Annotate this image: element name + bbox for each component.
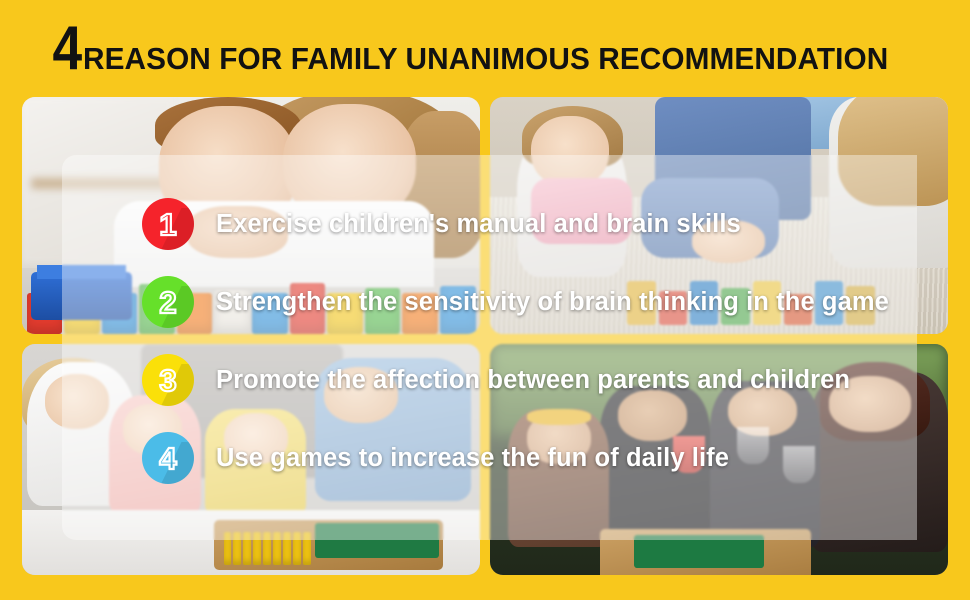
- badge-2-number: 2: [159, 287, 176, 318]
- badge-4-number: 4: [159, 443, 176, 474]
- reason-item-1: 1 Exercise children's manual and brain s…: [142, 185, 917, 263]
- badge-4: 4: [142, 432, 194, 484]
- badge-1: 1: [142, 198, 194, 250]
- reason-item-4: 4 Use games to increase the fun of daily…: [142, 419, 917, 497]
- promo-banner: 4 REASON FOR FAMILY UNANIMOUS RECOMMENDA…: [0, 0, 970, 600]
- reason-item-3: 3 Promote the affection between parents …: [142, 341, 917, 419]
- badge-3: 3: [142, 354, 194, 406]
- badge-2: 2: [142, 276, 194, 328]
- reason-item-2: 2 Strengthen the sensitivity of brain th…: [142, 263, 917, 341]
- reason-1-text: Exercise children's manual and brain ski…: [216, 210, 741, 239]
- reason-3-text: Promote the affection between parents an…: [216, 366, 850, 395]
- reason-list: 1 Exercise children's manual and brain s…: [62, 155, 917, 540]
- reason-4-text: Use games to increase the fun of daily l…: [216, 444, 729, 473]
- title-big-number: 4: [53, 18, 81, 80]
- badge-1-number: 1: [159, 209, 176, 240]
- page-title: 4 REASON FOR FAMILY UNANIMOUS RECOMMENDA…: [0, 18, 970, 80]
- reason-2-text: Strengthen the sensitivity of brain thin…: [216, 288, 889, 317]
- badge-3-number: 3: [159, 365, 176, 396]
- title-text: REASON FOR FAMILY UNANIMOUS RECOMMENDATI…: [83, 43, 888, 74]
